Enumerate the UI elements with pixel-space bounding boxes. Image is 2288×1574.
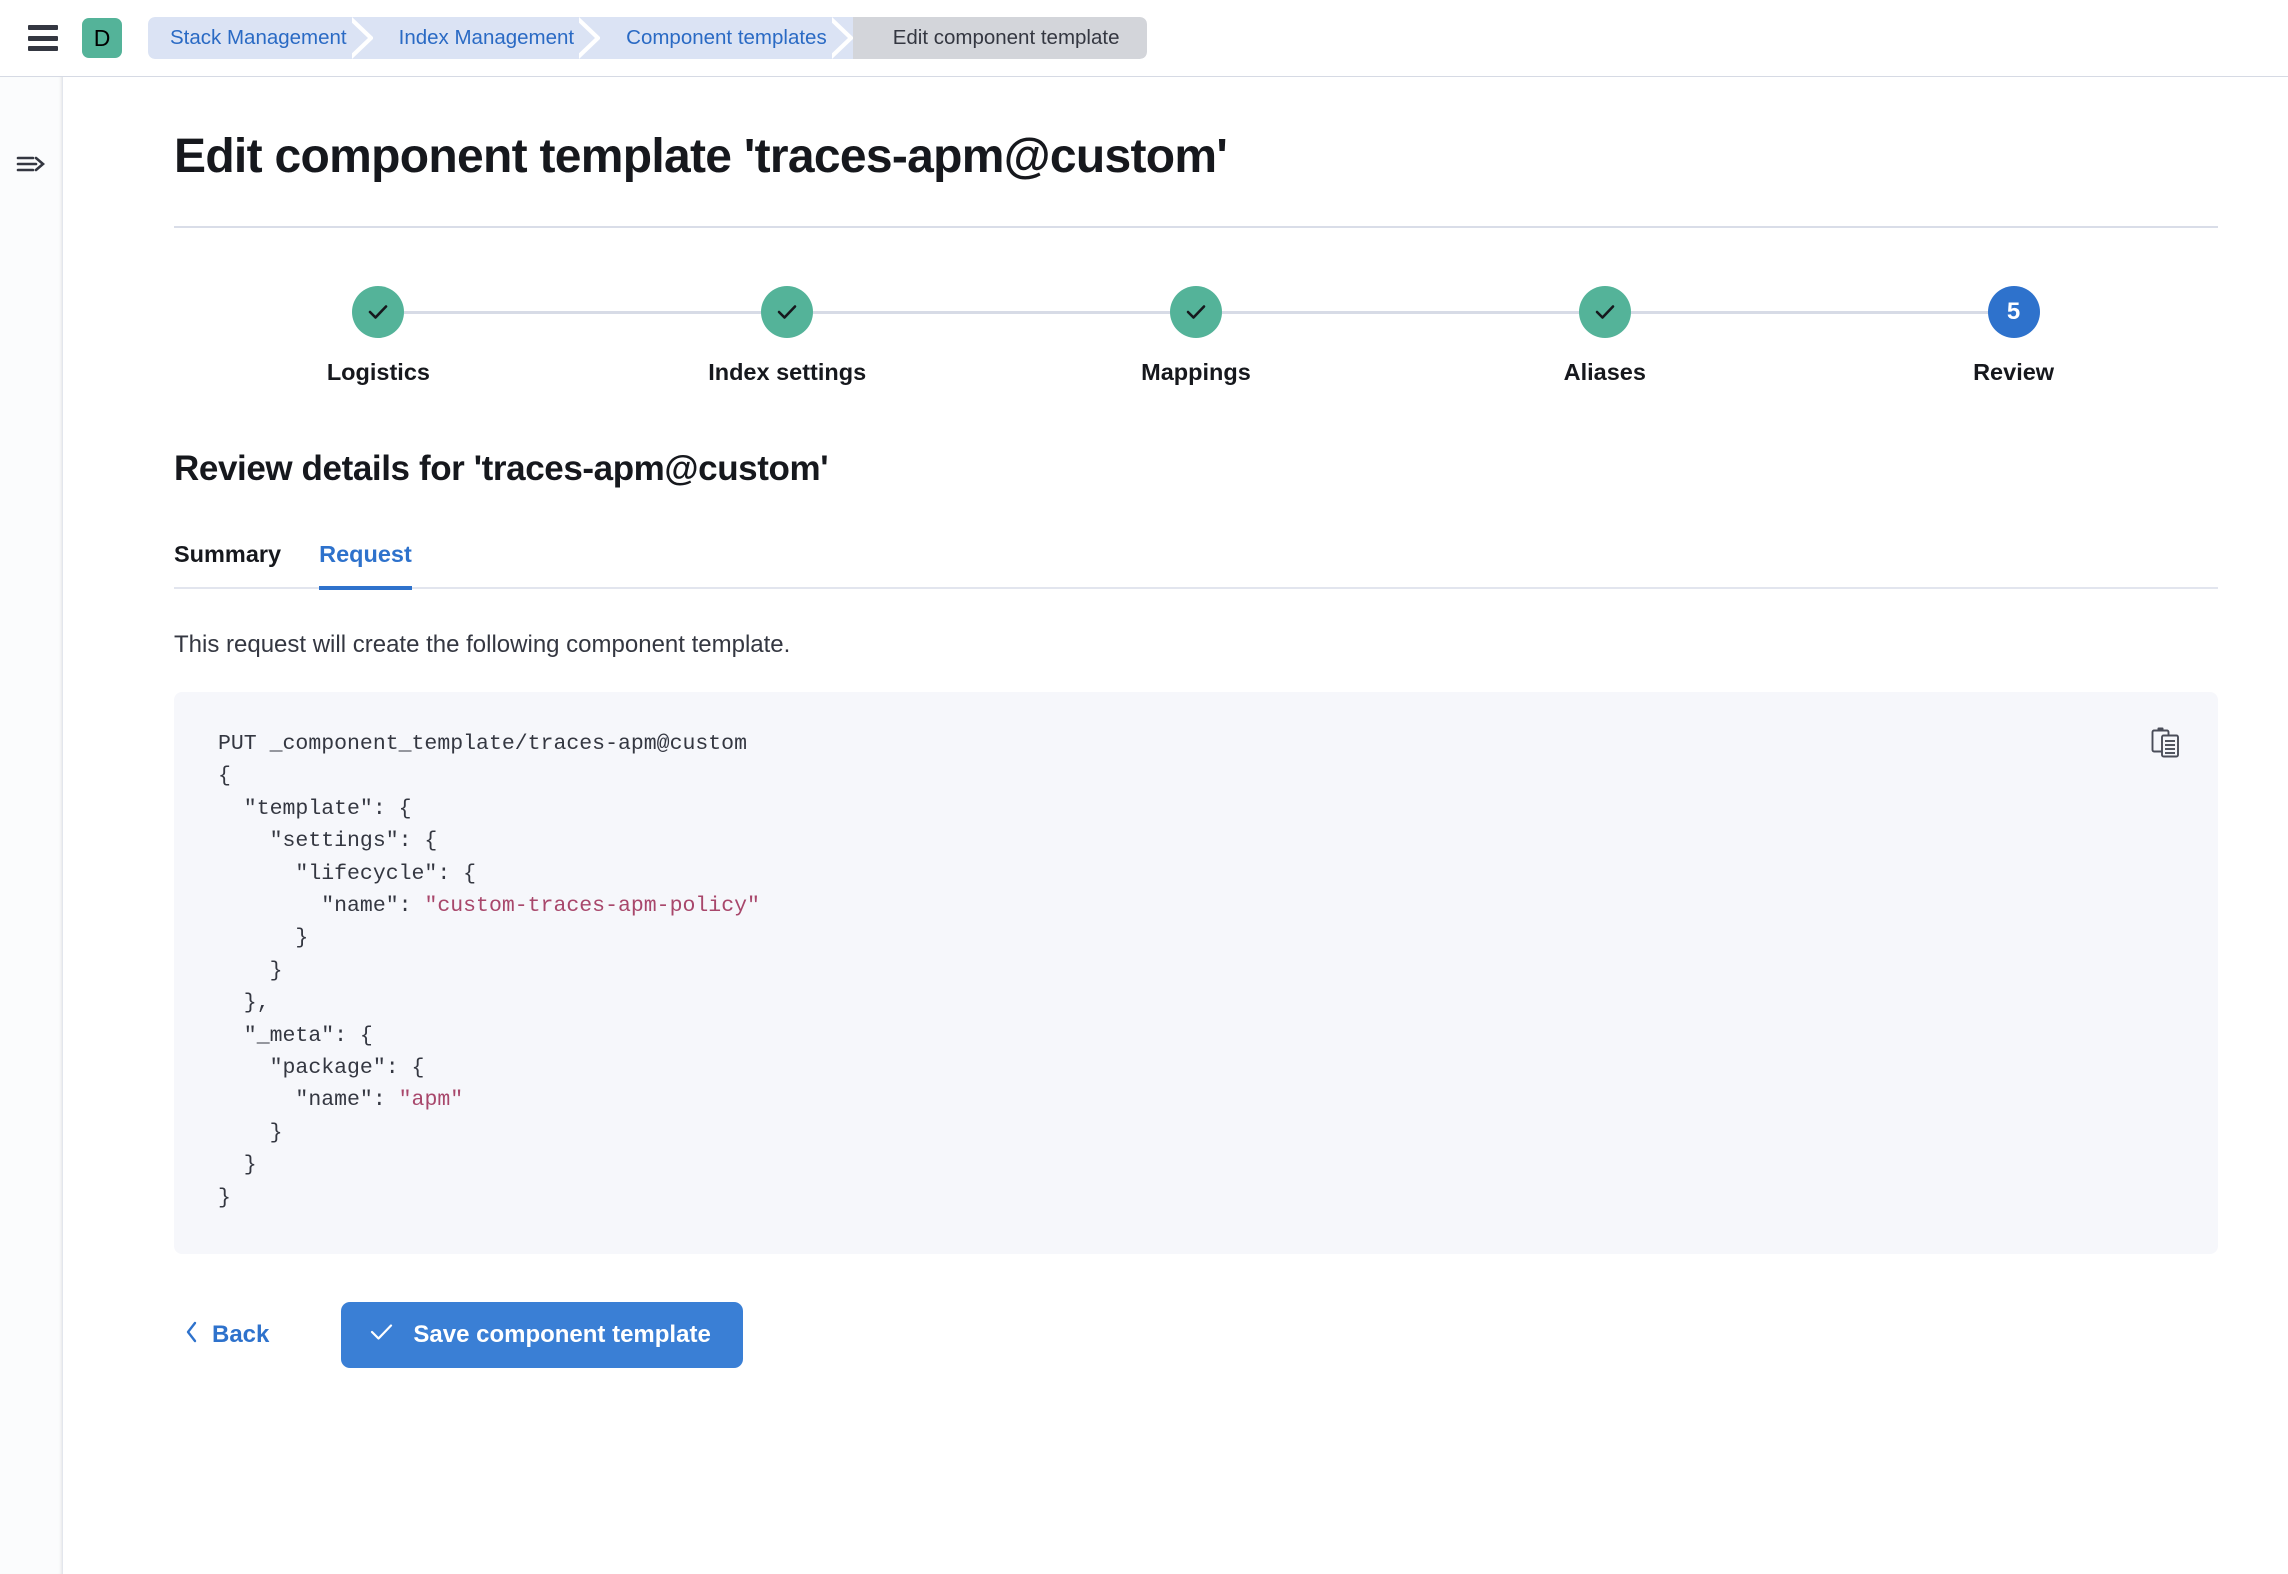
breadcrumb-label: Edit component template (893, 26, 1120, 50)
step-label: Review (1973, 359, 2054, 386)
breadcrumb-item-index-management[interactable]: Index Management (373, 17, 601, 59)
section-title: Review details for 'traces-apm@custom' (174, 449, 2222, 489)
step-label: Mappings (1141, 359, 1251, 386)
code-line-indent: "name": (218, 1088, 399, 1112)
step-connector (1400, 311, 1578, 314)
step-connector (813, 311, 991, 314)
step-marker-complete (352, 286, 404, 338)
check-icon (365, 299, 391, 325)
save-component-template-button[interactable]: Save component template (341, 1302, 742, 1368)
step-connector (1631, 311, 1809, 314)
code-line: "lifecycle": { (218, 862, 476, 886)
left-sidebar-rail (0, 77, 63, 1574)
step-connector (583, 311, 761, 314)
breadcrumb-label: Component templates (626, 26, 827, 50)
code-line-indent: "name": (218, 894, 424, 918)
check-icon (1592, 299, 1618, 325)
breadcrumb-label: Index Management (399, 26, 575, 50)
breadcrumb-chevron-icon (352, 17, 374, 59)
tab-request[interactable]: Request (319, 541, 412, 590)
code-string-value: "custom-traces-apm-policy" (424, 894, 759, 918)
step-logistics[interactable]: Logistics (174, 286, 583, 386)
step-marker-complete (761, 286, 813, 338)
step-index-settings[interactable]: Index settings (583, 286, 992, 386)
check-icon (1183, 299, 1209, 325)
review-tabs: Summary Request (174, 541, 2218, 589)
back-button[interactable]: Back (174, 1310, 283, 1361)
code-line: "_meta": { (218, 1024, 373, 1048)
code-line: "package": { (218, 1056, 424, 1080)
expand-sidebar-icon[interactable] (14, 147, 48, 181)
chevron-left-icon (184, 1320, 200, 1351)
breadcrumb: Stack Management Index Management Compon… (148, 17, 1147, 59)
save-button-label: Save component template (413, 1321, 710, 1349)
step-connector (1809, 311, 1987, 314)
step-marker-current: 5 (1988, 286, 2040, 338)
request-code-text: PUT _component_template/traces-apm@custo… (174, 728, 2218, 1214)
step-review[interactable]: 5 Review (1809, 286, 2218, 386)
title-divider (174, 226, 2218, 228)
step-label: Index settings (708, 359, 866, 386)
code-line: } (218, 959, 283, 983)
code-line: "template": { (218, 797, 412, 821)
breadcrumb-item-edit-component-template: Edit component template (853, 17, 1148, 59)
step-number: 5 (2007, 298, 2020, 326)
step-mappings[interactable]: Mappings (992, 286, 1401, 386)
code-string-value: "apm" (399, 1088, 464, 1112)
wizard-actions: Back Save component template (174, 1302, 2222, 1368)
hamburger-bar (28, 25, 58, 30)
breadcrumb-label: Stack Management (170, 26, 347, 50)
step-connector (1222, 311, 1400, 314)
breadcrumb-chevron-icon (832, 17, 854, 59)
code-line: { (218, 764, 231, 788)
copy-clipboard-icon[interactable] (2144, 720, 2188, 764)
request-code-block: PUT _component_template/traces-apm@custo… (174, 692, 2218, 1254)
code-line: }, (218, 991, 270, 1015)
hamburger-bar (28, 36, 58, 41)
step-marker-complete (1170, 286, 1222, 338)
code-line: PUT _component_template/traces-apm@custo… (218, 732, 747, 756)
top-chrome-bar: D Stack Management Index Management Comp… (0, 0, 2288, 77)
avatar-initial: D (94, 25, 111, 52)
step-connector (992, 311, 1170, 314)
request-description: This request will create the following c… (174, 631, 2222, 659)
step-connector (404, 311, 582, 314)
main-content: Edit component template 'traces-apm@cust… (63, 77, 2288, 1574)
step-label: Logistics (327, 359, 430, 386)
breadcrumb-item-stack-management[interactable]: Stack Management (148, 17, 373, 59)
avatar[interactable]: D (82, 18, 122, 58)
hamburger-bar (28, 46, 58, 51)
page-title: Edit component template 'traces-apm@cust… (174, 129, 2222, 184)
code-line: } (218, 1186, 231, 1210)
check-icon (369, 1321, 395, 1350)
code-line: "settings": { (218, 829, 437, 853)
back-button-label: Back (212, 1321, 269, 1349)
step-aliases[interactable]: Aliases (1400, 286, 1809, 386)
breadcrumb-item-component-templates[interactable]: Component templates (600, 17, 853, 59)
step-label: Aliases (1564, 359, 1646, 386)
code-line: } (218, 926, 308, 950)
check-icon (774, 299, 800, 325)
step-marker-complete (1579, 286, 1631, 338)
breadcrumb-chevron-icon (579, 17, 601, 59)
wizard-stepper: Logistics Index settings (174, 286, 2218, 386)
tab-summary[interactable]: Summary (174, 541, 281, 590)
code-line: } (218, 1153, 257, 1177)
code-line: } (218, 1121, 283, 1145)
hamburger-menu-icon[interactable] (28, 25, 58, 51)
